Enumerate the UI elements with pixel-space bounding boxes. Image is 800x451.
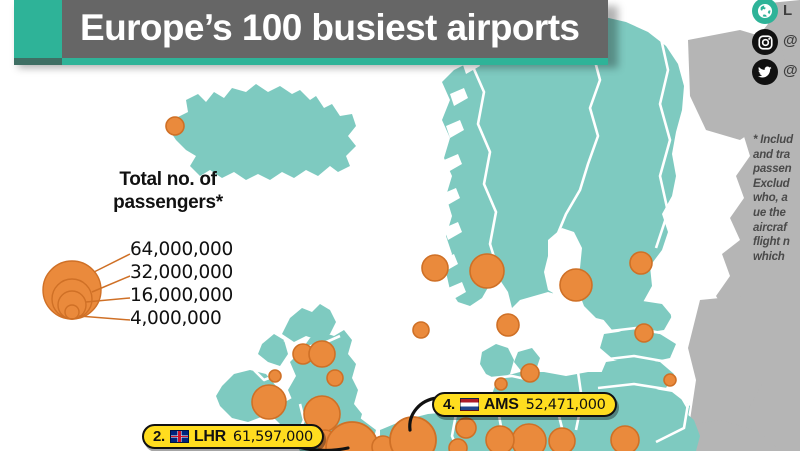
footnote-line-7: flight n <box>753 235 800 250</box>
legend-value-0: 64,000,000 <box>130 239 233 260</box>
callout-lhr[interactable]: 2. LHR 61,597,000 <box>142 424 324 449</box>
page-title: Europe’s 100 busiest airports <box>62 0 579 58</box>
social-handle-twitter: @ <box>783 62 798 79</box>
footnote-line-2: passen <box>753 162 800 177</box>
footnote-line-3: Exclud <box>753 177 800 192</box>
uk-flag-icon <box>170 430 189 443</box>
footnote-line-8: which <box>753 250 800 265</box>
legend-value-3: 4,000,000 <box>130 308 221 329</box>
legend-value-1: 32,000,000 <box>130 262 233 283</box>
netherlands-flag-icon <box>460 398 479 411</box>
legend-bubble-scale: 64,000,000 32,000,000 16,000,000 4,000,0… <box>34 230 274 330</box>
header-accent-block <box>14 0 62 58</box>
instagram-icon[interactable] <box>752 29 778 55</box>
footnote-line-4: who, a <box>753 191 800 206</box>
callout-ams[interactable]: 4. AMS 52,471,000 <box>432 392 617 417</box>
footnote-line-1: and tra <box>753 148 800 163</box>
header-underline-shadow <box>14 58 62 65</box>
callout-lhr-code: LHR <box>194 428 226 446</box>
legend-title-line1: Total no. of <box>70 168 266 191</box>
twitter-icon[interactable] <box>752 59 778 85</box>
legend-value-2: 16,000,000 <box>130 285 233 306</box>
footnote-line-6: aircraf <box>753 221 800 236</box>
callout-lhr-rank: 2. <box>153 428 165 445</box>
infographic-canvas: Europe’s 100 busiest airports Total no. … <box>0 0 800 451</box>
callout-ams-code: AMS <box>484 396 519 414</box>
footnote-line-5: ue the <box>753 206 800 221</box>
legend-title: Total no. of passengers* <box>70 168 266 214</box>
callout-ams-passengers: 52,471,000 <box>526 397 606 413</box>
footnote: * Includ and tra passen Exclud who, a ue… <box>753 133 800 264</box>
social-handle-instagram: @ <box>783 32 798 49</box>
social-handle-website: L <box>783 2 792 19</box>
callout-lhr-passengers: 61,597,000 <box>233 429 313 445</box>
legend-title-line2: passengers* <box>70 191 266 214</box>
header-underline <box>14 58 608 65</box>
footnote-line-0: * Includ <box>753 133 800 148</box>
callout-ams-rank: 4. <box>443 396 455 413</box>
legend: Total no. of passengers* 64,000,000 32,0… <box>34 168 274 214</box>
